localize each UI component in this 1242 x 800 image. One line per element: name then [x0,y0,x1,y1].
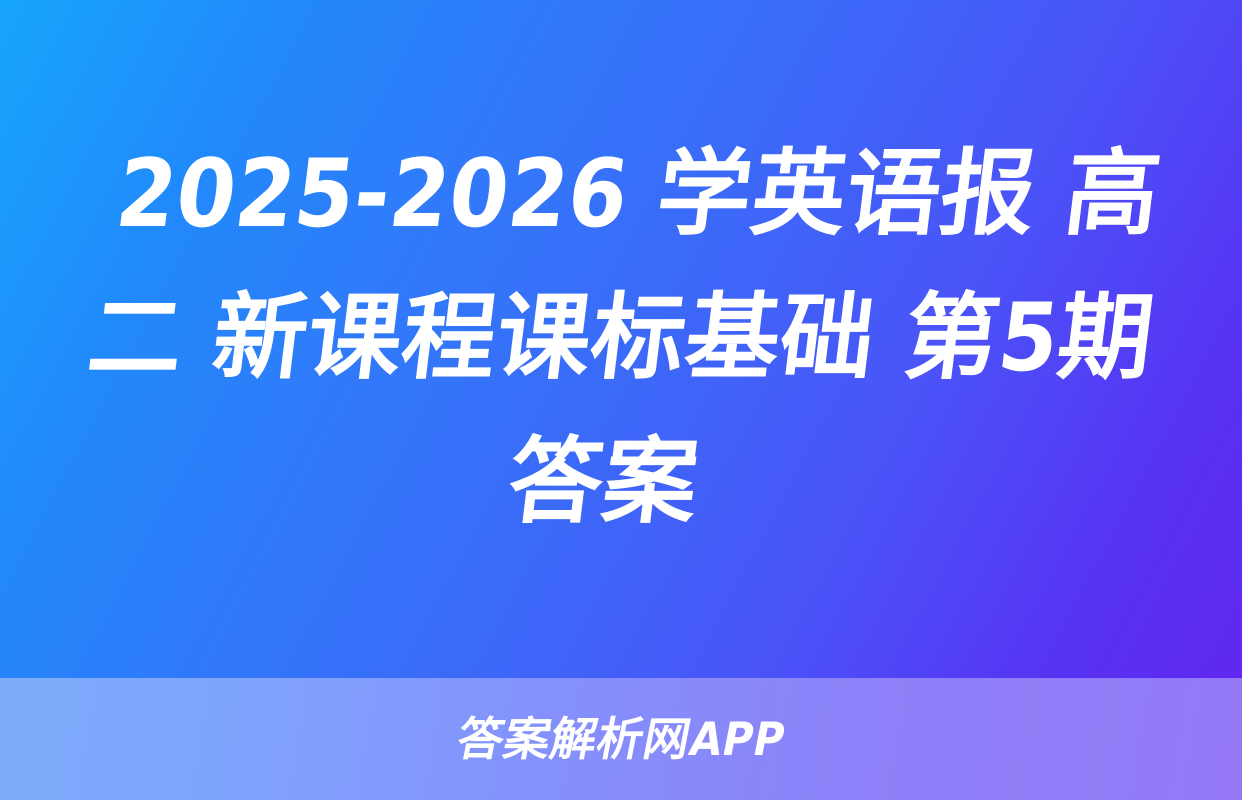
page-title: 2025-2026 学英语报 高二 新课程课标基础 第5期答案 [49,123,1194,554]
title-block: 2025-2026 学英语报 高二 新课程课标基础 第5期答案 [61,123,1181,554]
poster-gradient-stage: 2025-2026 学英语报 高二 新课程课标基础 第5期答案 [0,0,1242,678]
answer-poster: 2025-2026 学英语报 高二 新课程课标基础 第5期答案 答案解析网APP [0,0,1242,800]
watermark-brand-label: 答案解析网APP [453,716,789,762]
watermark-band: 答案解析网APP [0,678,1242,800]
